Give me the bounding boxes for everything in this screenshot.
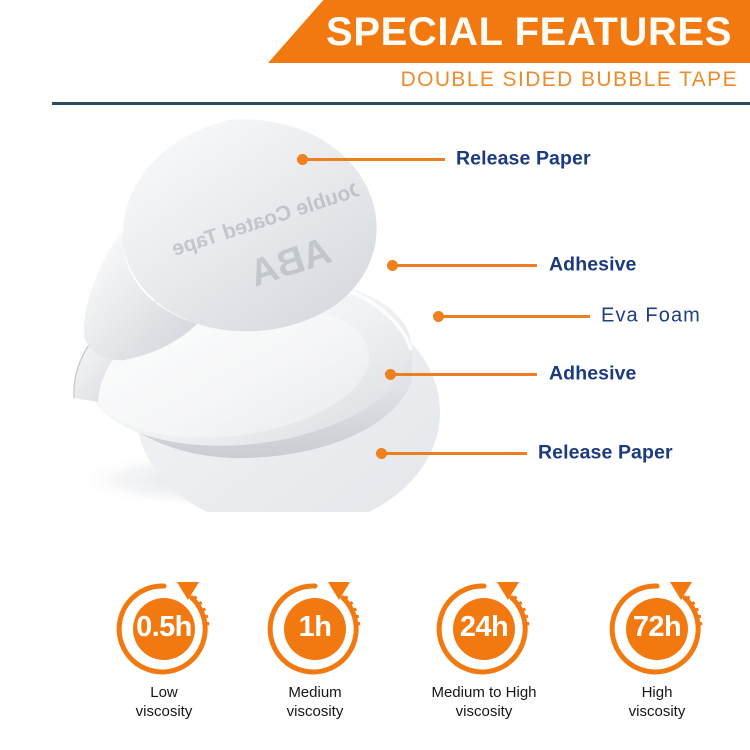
callout-leader-line <box>389 373 537 376</box>
callout-label-eva-foam: Eva Foam <box>601 305 701 328</box>
stopwatch-icon <box>114 576 214 676</box>
timer-icon: 72h <box>607 576 707 676</box>
timer-icon: 0.5h <box>114 576 214 676</box>
callout-anchor-dot <box>433 311 444 322</box>
header-banner: SPECIAL FEATURES <box>268 0 750 63</box>
timer-icon: 1h <box>265 576 365 676</box>
page-subtitle: DOUBLE SIDED BUBBLE TAPE <box>401 68 738 92</box>
callout-anchor-dot <box>297 154 308 165</box>
callout-anchor-dot <box>376 448 387 459</box>
viscosity-caption-line1: Medium to High <box>394 683 574 702</box>
viscosity-caption-line2: viscosity <box>567 702 747 721</box>
viscosity-caption-line1: Medium <box>225 683 405 702</box>
viscosity-item-1h: 1h Medium viscosity <box>225 576 405 721</box>
callout-leader-line <box>301 158 445 161</box>
callout-label-adhesive-top: Adhesive <box>549 254 637 277</box>
viscosity-item-72h: 72h High viscosity <box>567 576 747 721</box>
infographic-page: SPECIAL FEATURES DOUBLE SIDED BUBBLE TAP… <box>0 0 750 750</box>
timer-icon: 24h <box>434 576 534 676</box>
viscosity-caption-line2: viscosity <box>225 702 405 721</box>
callout-label-release-paper-top: Release Paper <box>456 148 591 171</box>
viscosity-caption: Medium viscosity <box>225 683 405 721</box>
viscosity-caption-line2: viscosity <box>394 702 574 721</box>
page-title: SPECIAL FEATURES <box>268 0 750 63</box>
callout-label-release-paper-bottom: Release Paper <box>538 442 673 465</box>
viscosity-caption: Medium to High viscosity <box>394 683 574 721</box>
callout-leader-line <box>391 264 537 267</box>
viscosity-caption: High viscosity <box>567 683 747 721</box>
header-divider <box>52 102 750 105</box>
callout-anchor-dot <box>385 369 396 380</box>
viscosity-caption-line1: High <box>567 683 747 702</box>
callout-leader-line <box>380 452 527 455</box>
viscosity-row: 0.5h Low viscosity <box>0 576 750 750</box>
stopwatch-icon <box>434 576 534 676</box>
callout-label-adhesive-bottom: Adhesive <box>549 363 637 386</box>
callout-leader-line <box>437 315 590 318</box>
stopwatch-icon <box>607 576 707 676</box>
stopwatch-icon <box>265 576 365 676</box>
callout-anchor-dot <box>387 260 398 271</box>
viscosity-item-24h: 24h Medium to High viscosity <box>394 576 574 721</box>
